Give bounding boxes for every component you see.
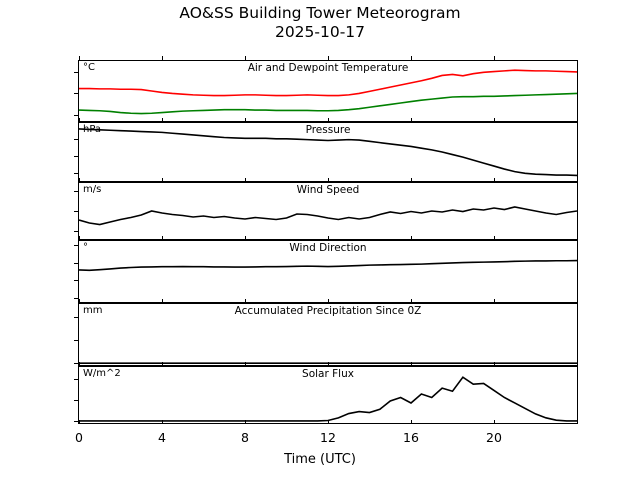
- x-tick-mark: [411, 118, 412, 122]
- x-tick-mark: [162, 118, 163, 122]
- panel-wind-speed: Wind Speedm/s: [78, 182, 578, 240]
- panel-solar-flux: Solar FluxW/m^2: [78, 366, 578, 424]
- x-tick-label: 20: [486, 430, 502, 445]
- x-tick-mark: [162, 236, 163, 240]
- x-tick-mark: [245, 236, 246, 240]
- x-tick-mark: [328, 178, 329, 182]
- x-tick-mark: [245, 299, 246, 303]
- x-tick-mark: [79, 362, 80, 366]
- x-tick-label: 12: [320, 430, 336, 445]
- x-tick-label: 16: [403, 430, 419, 445]
- x-tick-mark: [411, 362, 412, 366]
- x-tick-mark: [162, 362, 163, 366]
- x-tick-mark: [411, 56, 412, 60]
- x-tick-label: 4: [158, 430, 166, 445]
- x-tick-mark: [328, 299, 329, 303]
- x-tick-mark: [411, 178, 412, 182]
- x-tick-mark: [245, 118, 246, 122]
- x-tick-mark: [245, 362, 246, 366]
- x-tick-label: 0: [75, 430, 83, 445]
- x-tick-mark: [411, 299, 412, 303]
- x-tick-mark: [411, 236, 412, 240]
- x-tick-mark: [328, 56, 329, 60]
- x-tick-mark: [245, 420, 246, 424]
- x-tick-mark: [494, 178, 495, 182]
- x-tick-mark: [328, 236, 329, 240]
- x-tick-label: 8: [241, 430, 249, 445]
- x-tick-mark: [494, 56, 495, 60]
- x-axis-label: Time (UTC): [0, 452, 640, 467]
- x-tick-mark: [79, 118, 80, 122]
- x-tick-mark: [79, 178, 80, 182]
- x-tick-mark: [162, 56, 163, 60]
- x-tick-mark: [245, 56, 246, 60]
- x-tick-mark: [328, 118, 329, 122]
- x-tick-mark: [411, 420, 412, 424]
- x-tick-mark: [162, 178, 163, 182]
- x-tick-mark: [162, 299, 163, 303]
- meteorogram-figure: AO&SS Building Tower Meteorogram2025-10-…: [0, 0, 640, 480]
- panel-pressure: PressurehPa: [78, 122, 578, 182]
- x-tick-mark: [79, 56, 80, 60]
- x-tick-mark: [494, 362, 495, 366]
- x-tick-mark: [79, 420, 80, 424]
- x-tick-mark: [245, 178, 246, 182]
- x-tick-mark: [79, 299, 80, 303]
- x-tick-mark: [494, 299, 495, 303]
- x-tick-mark: [494, 420, 495, 424]
- panel-wind-direction: Wind Direction°: [78, 240, 578, 303]
- x-tick-mark: [328, 362, 329, 366]
- figure-title-line2: 2025-10-17: [275, 23, 365, 41]
- x-tick-mark: [328, 420, 329, 424]
- x-tick-mark: [162, 420, 163, 424]
- x-tick-mark: [494, 236, 495, 240]
- x-tick-mark: [494, 118, 495, 122]
- figure-title: AO&SS Building Tower Meteorogram2025-10-…: [0, 4, 640, 42]
- figure-title-line1: AO&SS Building Tower Meteorogram: [179, 4, 460, 22]
- x-tick-mark: [79, 236, 80, 240]
- panel-air-and-dewpoint-temperature: Air and Dewpoint Temperature°C: [78, 60, 578, 122]
- panel-accumulated-precipitation: Accumulated Precipitation Since 0Zmm: [78, 303, 578, 366]
